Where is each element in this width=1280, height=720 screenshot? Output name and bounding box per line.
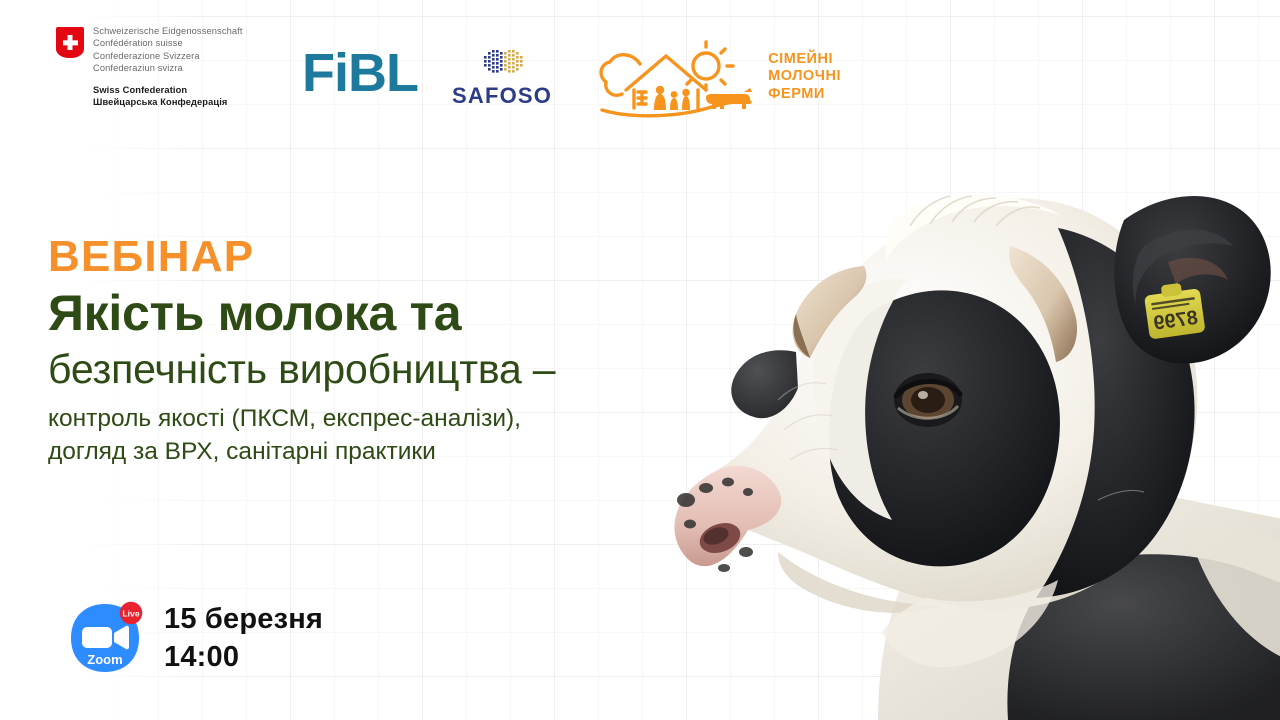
webinar-subtitle-line-1: контроль якості (ПКСМ, експрес-аналізи), [48,402,555,435]
swiss-spacer [93,74,243,84]
webinar-title-line-2: безпечність виробництва – [48,344,555,394]
webinar-subtitle: контроль якості (ПКСМ, експрес-аналізи),… [48,402,555,468]
webinar-title-line-1: Якість молока та [48,284,555,342]
live-badge: Live [118,600,144,626]
partner-logo-strip: Schweizerische Eidgenossenschaft Confédé… [56,24,841,120]
ffarm-line-3: ФЕРМИ [768,86,841,104]
swiss-line-uk: Швейцарська Конфедерація [93,96,243,108]
zoom-wordmark: Zoom [87,652,122,667]
zoom-logo[interactable]: Zoom Live [68,601,142,675]
fibl-logo: FiBL [302,46,418,100]
webinar-kicker: ВЕБІНАР [48,232,555,282]
ffarm-line-2: МОЛОЧНІ [768,68,841,86]
safoso-dot-matrix-icon [474,46,530,80]
svg-text:Live: Live [122,608,140,618]
family-dairy-farm-house-icon [588,34,758,120]
swiss-line-it: Confederazione Svizzera [93,50,243,62]
swiss-line-en: Swiss Confederation [93,84,243,96]
safoso-wordmark: SAFOSO [452,83,552,109]
swiss-confederation-logo: Schweizerische Eidgenossenschaft Confédé… [56,24,288,109]
webinar-poster: 8799 [0,0,1280,720]
swiss-line-rm: Confederaziun svizra [93,62,243,74]
swiss-confederation-text: Schweizerische Eidgenossenschaft Confédé… [93,24,243,109]
event-meta-row: Zoom Live 15 березня 14:00 [68,600,323,676]
ffarm-line-1: СІМЕЙНІ [768,51,841,69]
event-time: 14:00 [164,638,323,676]
webinar-subtitle-line-2: догляд за ВРХ, санітарні практики [48,435,555,468]
headline-block: ВЕБІНАР Якість молока та безпечність вир… [48,232,555,468]
swiss-cross-shield-icon [56,27,84,58]
event-date: 15 березня [164,600,323,638]
safoso-logo: SAFOSO [452,46,552,109]
family-dairy-farms-text: СІМЕЙНІ МОЛОЧНІ ФЕРМИ [768,51,841,104]
swiss-line-de: Schweizerische Eidgenossenschaft [93,25,243,37]
event-datetime: 15 березня 14:00 [164,600,323,676]
cow-photo: 8799 [628,100,1280,720]
swiss-line-fr: Confédération suisse [93,37,243,49]
svg-text:8799: 8799 [1152,307,1199,335]
family-dairy-farms-logo: СІМЕЙНІ МОЛОЧНІ ФЕРМИ [588,34,841,120]
